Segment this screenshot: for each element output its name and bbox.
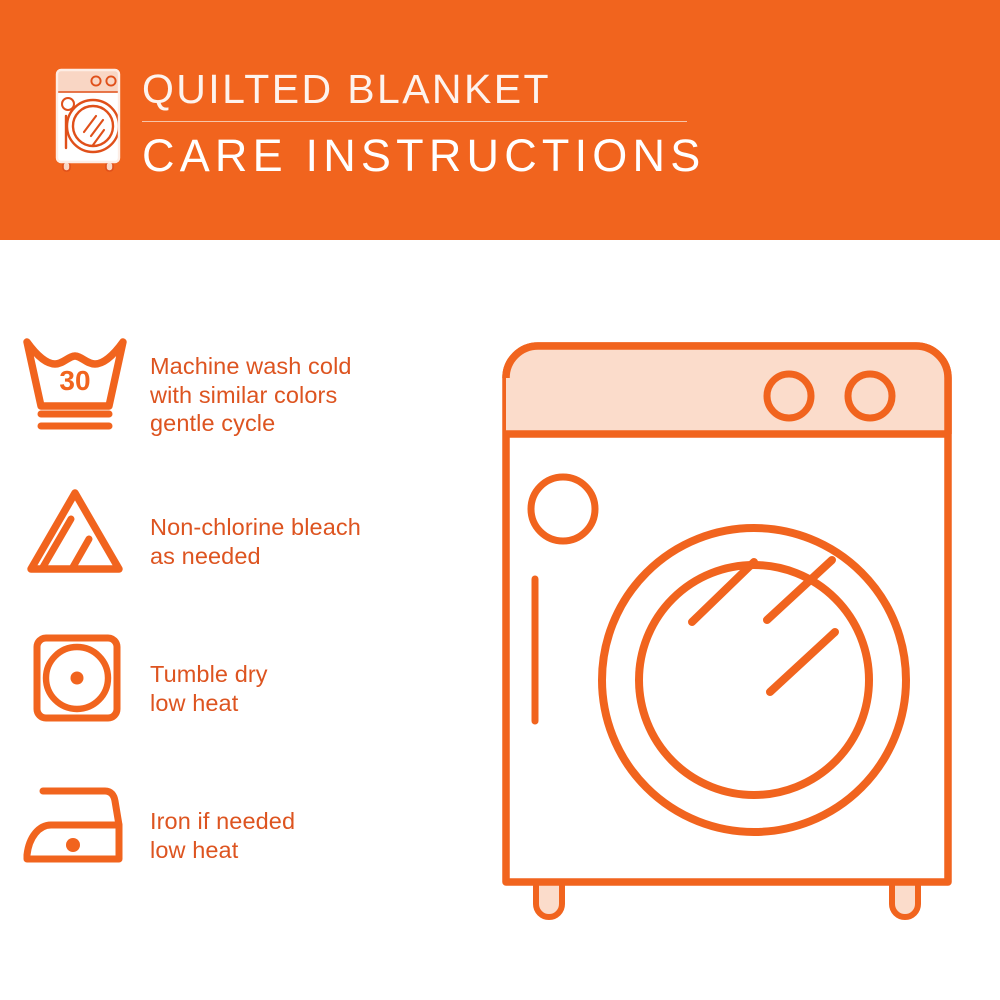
care-item-machine-wash: 30 Machine wash cold with similar colors… [0, 330, 480, 477]
care-instructions-page: QUILTED BLANKET CARE INSTRUCTIONS 30 Mac… [0, 0, 1000, 1000]
page-subtitle: CARE INSTRUCTIONS [142, 128, 742, 183]
title-divider [142, 121, 687, 122]
washing-machine-icon [44, 66, 130, 174]
care-instructions-list: 30 Machine wash cold with similar colors… [0, 330, 480, 918]
machine-wash-30-gentle-icon: 30 [0, 330, 150, 432]
care-item-label: Iron if needed low heat [150, 771, 295, 864]
care-item-label: Machine wash cold with similar colors ge… [150, 330, 352, 438]
care-item-bleach: Non-chlorine bleach as needed [0, 477, 480, 624]
front-load-washing-machine-illustration [492, 332, 962, 932]
care-item-iron: Iron if needed low heat [0, 771, 480, 918]
tumble-dry-low-icon [0, 624, 150, 726]
control-panel [506, 346, 948, 434]
iron-low-heat-icon [0, 771, 150, 873]
page-title: QUILTED BLANKET [142, 64, 742, 114]
care-item-label: Non-chlorine bleach as needed [150, 477, 361, 570]
header-band: QUILTED BLANKET CARE INSTRUCTIONS [0, 0, 1000, 240]
non-chlorine-bleach-icon [0, 477, 150, 579]
care-item-tumble-dry: Tumble dry low heat [0, 624, 480, 771]
care-item-label: Tumble dry low heat [150, 624, 268, 717]
wash-temperature-label: 30 [59, 365, 90, 396]
header-titles: QUILTED BLANKET CARE INSTRUCTIONS [142, 64, 742, 183]
